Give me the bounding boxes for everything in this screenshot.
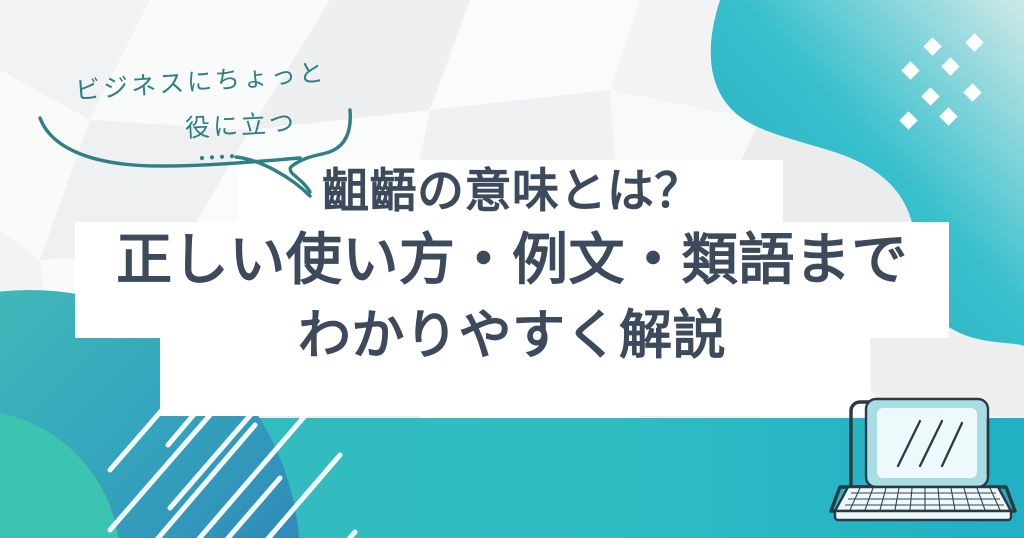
dotted-leader [200,154,234,160]
thumbnail-canvas: 齟齬の意味とは？ 正しい使い方・例文・類語まで わかりやすく解説 ビジネスにちょ… [0,0,1024,538]
underline-swoosh [40,118,300,166]
laptop-base-lip [835,511,1011,520]
laptop-illustration [820,390,1020,538]
laptop-screen [876,407,978,479]
speech-bubble-tail [290,110,350,192]
